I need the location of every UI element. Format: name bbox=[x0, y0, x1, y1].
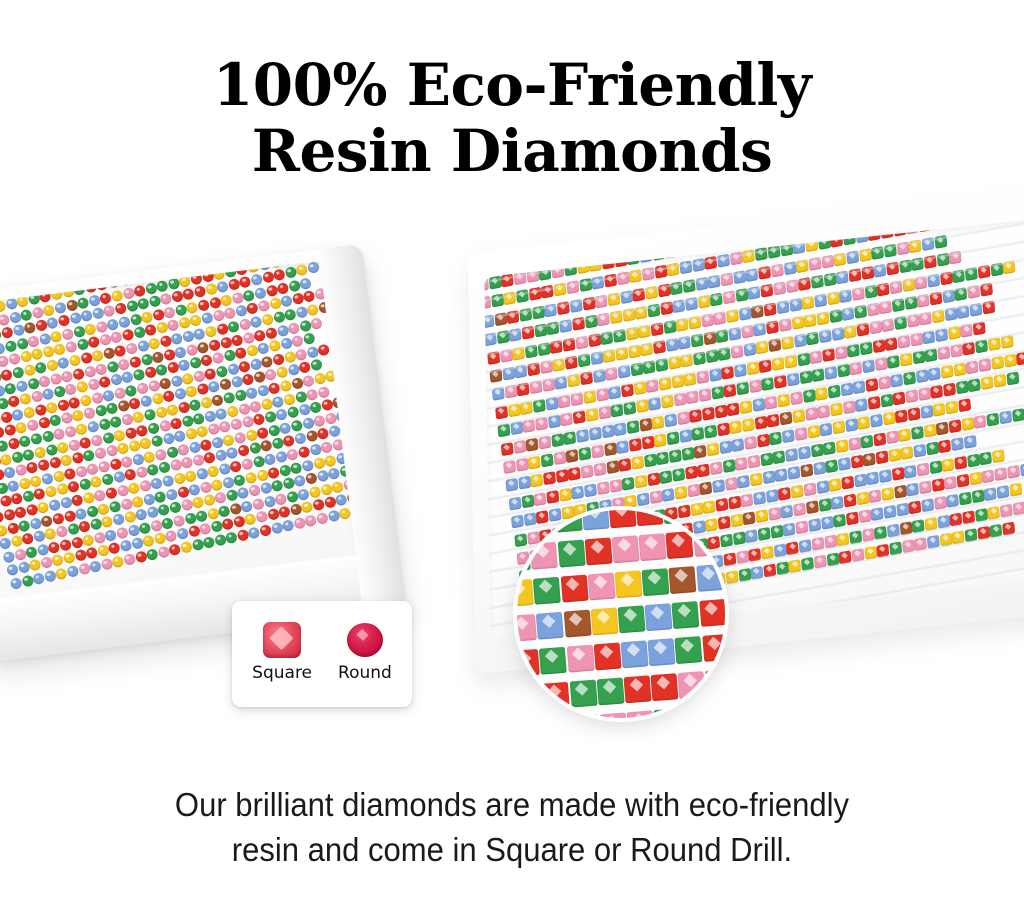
drill-bead bbox=[726, 309, 739, 323]
drill-bead bbox=[46, 317, 59, 330]
drill-bead bbox=[579, 447, 592, 461]
drill-bead bbox=[573, 410, 586, 424]
drill-bead bbox=[786, 541, 799, 555]
drill-bead bbox=[792, 409, 805, 423]
drill-bead bbox=[558, 394, 571, 408]
drill-bead bbox=[800, 464, 813, 478]
drill-bead bbox=[303, 332, 316, 345]
drill-bead bbox=[324, 454, 337, 467]
drill-bead bbox=[659, 470, 672, 484]
drill-bead bbox=[497, 330, 510, 344]
drill-bead bbox=[267, 466, 280, 479]
drill-bead bbox=[717, 422, 730, 436]
drill-bead bbox=[221, 518, 234, 531]
drill-bead bbox=[634, 474, 647, 488]
drill-bead bbox=[845, 418, 858, 432]
drill-bead bbox=[890, 373, 903, 387]
drill-bead bbox=[616, 440, 629, 454]
drill-bead bbox=[673, 299, 686, 313]
drill-bead bbox=[818, 498, 831, 512]
drill-bead bbox=[290, 461, 303, 474]
drill-bead bbox=[245, 471, 258, 484]
drill-bead bbox=[924, 517, 937, 531]
drill-bead bbox=[554, 283, 567, 297]
drill-bead bbox=[313, 414, 326, 427]
drill-bead bbox=[930, 292, 943, 306]
drill-bead bbox=[915, 369, 928, 383]
drill-bead bbox=[678, 671, 706, 699]
drill-bead bbox=[816, 311, 829, 325]
drill-bead bbox=[798, 446, 811, 460]
drill-bead bbox=[500, 442, 513, 456]
drill-bead bbox=[45, 401, 58, 414]
drill-bead bbox=[294, 474, 307, 487]
drill-bead bbox=[741, 325, 754, 339]
drill-bead bbox=[889, 280, 902, 294]
drill-bead bbox=[896, 410, 909, 424]
drill-bead bbox=[642, 267, 655, 281]
drill-bead bbox=[244, 513, 257, 526]
drill-bead bbox=[975, 340, 988, 354]
drill-bead bbox=[72, 367, 85, 380]
drill-bead bbox=[674, 393, 687, 407]
drill-bead bbox=[594, 463, 607, 477]
drill-bead bbox=[1007, 465, 1020, 479]
drill-bead bbox=[636, 399, 649, 413]
drill-bead bbox=[750, 473, 763, 487]
caption-text: Our brilliant diamonds are made with eco… bbox=[31, 782, 994, 872]
drill-bead bbox=[556, 469, 569, 483]
drill-bead bbox=[832, 327, 845, 341]
drill-bead bbox=[651, 673, 679, 701]
drill-bead bbox=[118, 315, 131, 328]
drill-bead bbox=[867, 303, 880, 317]
drill-bead bbox=[801, 557, 814, 571]
drill-bead bbox=[83, 365, 96, 378]
drill-bead bbox=[623, 401, 636, 415]
drill-bead bbox=[699, 599, 727, 627]
drill-bead bbox=[87, 378, 100, 391]
drill-bead bbox=[122, 287, 135, 300]
drill-bead bbox=[78, 562, 91, 575]
drill-bead bbox=[692, 258, 705, 272]
drill-bead bbox=[837, 364, 850, 378]
drill-bead bbox=[733, 532, 746, 546]
drill-bead bbox=[777, 393, 790, 407]
drill-bead bbox=[162, 390, 175, 403]
drill-bead bbox=[781, 505, 794, 519]
drill-bead bbox=[767, 414, 780, 428]
drill-bead bbox=[290, 419, 303, 432]
drill-bead bbox=[503, 460, 516, 474]
drill-bead bbox=[952, 269, 965, 283]
drill-bead bbox=[941, 458, 954, 472]
drill-bead bbox=[881, 487, 894, 501]
drill-bead bbox=[536, 612, 564, 640]
drill-bead bbox=[912, 519, 925, 533]
drill-bead bbox=[926, 442, 939, 456]
drill-bead bbox=[708, 274, 721, 288]
drill-bead bbox=[104, 529, 117, 542]
drill-bead bbox=[773, 282, 786, 296]
drill-bead bbox=[335, 494, 348, 507]
drill-bead bbox=[789, 559, 802, 573]
drill-bead bbox=[978, 358, 991, 372]
drill-bead bbox=[137, 297, 150, 310]
drill-bead bbox=[882, 319, 895, 333]
drill-bead bbox=[197, 299, 210, 312]
drill-bead bbox=[181, 456, 194, 469]
drill-bead bbox=[734, 363, 747, 377]
drill-bead bbox=[310, 317, 323, 330]
drill-bead bbox=[755, 509, 768, 523]
drill-bead bbox=[962, 510, 975, 524]
magnified-detail-circle bbox=[513, 506, 729, 722]
drill-bead bbox=[557, 301, 570, 315]
drill-bead bbox=[10, 493, 23, 506]
drill-bead bbox=[131, 495, 144, 508]
drill-bead bbox=[530, 542, 558, 570]
drill-bead bbox=[72, 409, 85, 422]
drill-bead bbox=[238, 360, 251, 373]
drill-bead bbox=[807, 332, 820, 346]
drill-bead bbox=[871, 246, 884, 260]
drill-bead bbox=[219, 378, 232, 391]
drill-bead bbox=[286, 448, 299, 461]
drill-bead bbox=[949, 419, 962, 433]
drill-bead bbox=[853, 473, 866, 487]
drill-bead bbox=[575, 335, 588, 349]
drill-bead bbox=[801, 295, 814, 309]
drill-bead bbox=[491, 294, 504, 308]
drill-bead bbox=[776, 300, 789, 314]
drill-bead bbox=[301, 459, 314, 472]
drill-bead bbox=[592, 276, 605, 290]
drill-bead bbox=[167, 319, 180, 332]
drill-bead bbox=[30, 432, 43, 445]
drill-bead bbox=[861, 528, 874, 542]
tray-well bbox=[0, 261, 360, 603]
drill-bead bbox=[581, 506, 609, 530]
drill-shape-legend: Square Round bbox=[232, 601, 412, 707]
drill-bead bbox=[814, 293, 827, 307]
drill-bead bbox=[900, 353, 913, 367]
drill-bead bbox=[237, 487, 250, 500]
drill-bead bbox=[313, 456, 326, 469]
drill-bead bbox=[553, 451, 566, 465]
drill-bead bbox=[657, 283, 670, 297]
drill-bead bbox=[815, 386, 828, 400]
drill-bead bbox=[504, 292, 517, 306]
drill-bead bbox=[723, 290, 736, 304]
drill-bead bbox=[63, 509, 76, 522]
drill-bead bbox=[516, 458, 529, 472]
drill-bead bbox=[696, 564, 724, 592]
drill-bead bbox=[640, 342, 653, 356]
drill-bead bbox=[921, 405, 934, 419]
drill-bead bbox=[947, 494, 960, 508]
drill-bead bbox=[795, 427, 808, 441]
drill-bead bbox=[720, 441, 733, 455]
drill-bead bbox=[876, 451, 889, 465]
drill-bead bbox=[965, 528, 978, 542]
drill-bead bbox=[14, 506, 27, 519]
drill-bead bbox=[49, 456, 62, 469]
drill-bead bbox=[813, 462, 826, 476]
drill-bead bbox=[669, 566, 697, 594]
drill-bead bbox=[584, 537, 612, 565]
drill-bead bbox=[68, 396, 81, 409]
drill-bead bbox=[903, 371, 916, 385]
drill-bead bbox=[583, 390, 596, 404]
drill-bead bbox=[264, 453, 277, 466]
drill-bead bbox=[974, 415, 987, 429]
drill-bead bbox=[19, 393, 32, 406]
drill-bead bbox=[269, 340, 282, 353]
drill-bead bbox=[220, 294, 233, 307]
drill-bead bbox=[492, 387, 505, 401]
drill-bead bbox=[55, 525, 68, 538]
drill-bead bbox=[518, 719, 546, 722]
drill-bead bbox=[327, 509, 340, 522]
drill-bead bbox=[193, 328, 206, 341]
drill-bead bbox=[693, 529, 721, 557]
drill-bead bbox=[983, 301, 996, 315]
drill-bead bbox=[932, 478, 945, 492]
drill-bead bbox=[626, 710, 654, 722]
drill-bead bbox=[1020, 463, 1024, 477]
drill-bead bbox=[555, 376, 568, 390]
drill-bead bbox=[861, 435, 874, 449]
drill-bead bbox=[949, 512, 962, 526]
drill-bead bbox=[241, 500, 254, 513]
drill-bead bbox=[869, 489, 882, 503]
drill-bead bbox=[98, 460, 111, 473]
drill-bead bbox=[203, 452, 216, 465]
drill-bead bbox=[60, 454, 73, 467]
drill-bead bbox=[116, 526, 129, 539]
drill-bead bbox=[899, 259, 912, 273]
drill-bead bbox=[802, 389, 815, 403]
drill-bead bbox=[681, 706, 709, 722]
drill-bead bbox=[686, 390, 699, 404]
drill-bead bbox=[565, 356, 578, 370]
drill-bead bbox=[869, 321, 882, 335]
drill-bead bbox=[691, 334, 704, 348]
drill-bead bbox=[597, 313, 610, 327]
drill-bead bbox=[312, 499, 325, 512]
drill-bead bbox=[517, 383, 530, 397]
drill-bead bbox=[650, 322, 663, 336]
drill-bead bbox=[127, 524, 140, 537]
drill-bead bbox=[984, 487, 997, 501]
drill-bead bbox=[94, 489, 107, 502]
drill-bead bbox=[173, 430, 186, 443]
drill-bead bbox=[641, 436, 654, 450]
drill-bead bbox=[551, 433, 564, 447]
drill-bead bbox=[283, 350, 296, 363]
drill-bead bbox=[61, 370, 74, 383]
drill-bead bbox=[726, 570, 739, 584]
drill-bead bbox=[569, 680, 597, 708]
drill-bead bbox=[597, 481, 610, 495]
drill-bead bbox=[307, 261, 320, 274]
drill-bead bbox=[186, 301, 199, 314]
drill-bead bbox=[78, 520, 91, 533]
drill-bead bbox=[279, 379, 292, 392]
drill-bead bbox=[657, 452, 670, 466]
drill-bead bbox=[58, 314, 71, 327]
drill-bead bbox=[117, 358, 130, 371]
drill-bead bbox=[132, 411, 145, 424]
drill-bead bbox=[697, 463, 710, 477]
drill-bead bbox=[765, 489, 778, 503]
drill-bead bbox=[154, 448, 167, 461]
drill-bead bbox=[11, 450, 24, 463]
drill-bead bbox=[571, 485, 584, 499]
drill-bead bbox=[26, 419, 39, 432]
drill-bead bbox=[886, 262, 899, 276]
drill-bead bbox=[41, 430, 54, 443]
drill-bead bbox=[0, 313, 10, 326]
drill-bead bbox=[166, 403, 179, 416]
drill-bead bbox=[219, 420, 232, 433]
drill-bead bbox=[951, 437, 964, 451]
drill-bead bbox=[273, 268, 286, 281]
round-drill-icon bbox=[346, 622, 384, 658]
drill-bead bbox=[12, 366, 25, 379]
drill-bead bbox=[817, 405, 830, 419]
drill-bead bbox=[679, 429, 692, 443]
drill-bead bbox=[72, 325, 85, 338]
drill-bead bbox=[880, 394, 893, 408]
drill-bead bbox=[716, 329, 729, 343]
drill-bead bbox=[50, 330, 63, 343]
drill-bead bbox=[94, 447, 107, 460]
drill-bead bbox=[216, 280, 229, 293]
drill-bead bbox=[534, 492, 547, 506]
drill-bead bbox=[582, 297, 595, 311]
drill-bead bbox=[328, 467, 341, 480]
drill-bead bbox=[246, 302, 259, 315]
drill-bead bbox=[611, 404, 624, 418]
drill-bead bbox=[95, 362, 108, 375]
drill-bead bbox=[6, 522, 19, 535]
drill-bead bbox=[538, 435, 551, 449]
drill-bead bbox=[894, 485, 907, 499]
drill-bead bbox=[997, 485, 1010, 499]
drill-bead bbox=[243, 289, 256, 302]
drill-bead bbox=[689, 409, 702, 423]
drill-bead bbox=[172, 514, 185, 527]
drill-bead bbox=[743, 511, 756, 525]
drill-bead bbox=[510, 421, 523, 435]
drill-bead bbox=[891, 467, 904, 481]
drill-bead bbox=[107, 318, 120, 331]
drill-bead bbox=[30, 475, 43, 488]
drill-bead bbox=[168, 543, 181, 556]
drill-bead bbox=[746, 529, 759, 543]
drill-bead bbox=[158, 503, 171, 516]
drill-bead bbox=[518, 476, 531, 490]
drill-bead bbox=[768, 245, 781, 259]
drill-bead bbox=[140, 353, 153, 366]
drill-bead bbox=[702, 634, 729, 662]
drill-bead bbox=[732, 438, 745, 452]
drill-bead bbox=[204, 367, 217, 380]
drill-bead bbox=[759, 359, 772, 373]
drill-bead bbox=[38, 374, 51, 387]
drill-bead bbox=[904, 464, 917, 478]
magnified-drill-field bbox=[513, 506, 729, 722]
drill-bead bbox=[0, 537, 12, 550]
product-image-canvas: 100% Eco-Friendly Resin Diamonds Square … bbox=[0, 0, 1024, 923]
drill-bead bbox=[303, 290, 316, 303]
drill-bead bbox=[143, 450, 156, 463]
drill-bead bbox=[761, 545, 774, 559]
drill-bead bbox=[944, 476, 957, 490]
drill-bead bbox=[763, 302, 776, 316]
drill-bead bbox=[106, 402, 119, 415]
drill-bead bbox=[862, 359, 875, 373]
drill-bead bbox=[176, 528, 189, 541]
drill-bead bbox=[576, 428, 589, 442]
drill-bead bbox=[687, 484, 700, 498]
drill-bead bbox=[177, 443, 190, 456]
drill-bead bbox=[587, 333, 600, 347]
drill-bead bbox=[639, 533, 667, 561]
drill-bead bbox=[542, 285, 555, 299]
drill-bead bbox=[874, 526, 887, 540]
drill-bead bbox=[631, 363, 644, 377]
drill-bead bbox=[88, 294, 101, 307]
drill-bead bbox=[513, 649, 540, 677]
drill-bead bbox=[239, 276, 252, 289]
drill-bead bbox=[227, 362, 240, 375]
tray-round-drills bbox=[0, 244, 407, 662]
drill-bead bbox=[295, 348, 308, 361]
drill-bead bbox=[1010, 483, 1023, 497]
drill-bead bbox=[593, 369, 606, 383]
drill-bead bbox=[784, 354, 797, 368]
drill-bead bbox=[852, 548, 865, 562]
drill-bead bbox=[981, 376, 994, 390]
drill-bead bbox=[590, 607, 618, 635]
drill-bead bbox=[279, 421, 292, 434]
drill-bead bbox=[593, 642, 621, 670]
drill-bead bbox=[656, 358, 669, 372]
drill-bead bbox=[938, 346, 951, 360]
drill-bead bbox=[776, 561, 789, 575]
drill-bead bbox=[990, 524, 1003, 538]
drill-bead bbox=[559, 488, 572, 502]
drill-bead bbox=[638, 324, 651, 338]
drill-bead bbox=[830, 402, 843, 416]
drill-bead bbox=[924, 255, 937, 269]
drill-bead bbox=[310, 359, 323, 372]
drill-bead bbox=[632, 288, 645, 302]
drill-bead bbox=[190, 314, 203, 327]
drill-bead bbox=[237, 444, 250, 457]
drill-bead bbox=[513, 721, 519, 722]
drill-bead bbox=[986, 412, 999, 426]
drill-bead bbox=[904, 296, 917, 310]
drill-bead bbox=[45, 443, 58, 456]
drill-bead bbox=[114, 302, 127, 315]
drill-bead bbox=[59, 496, 72, 509]
drill-bead bbox=[728, 327, 741, 341]
drill-bead bbox=[626, 420, 639, 434]
